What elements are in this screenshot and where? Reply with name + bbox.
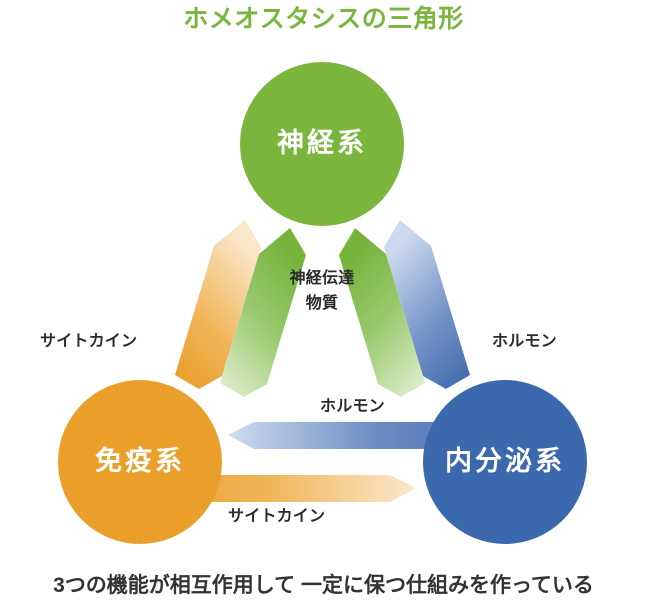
edge-label-neurotransmitter-line1: 神経伝達 [267, 268, 377, 289]
edge-label-cytokine-bottom: サイトカイン [228, 506, 325, 527]
edge-label-hormone-right: ホルモン [492, 331, 557, 352]
node-circle-nervous[interactable] [240, 62, 404, 226]
diagram-caption: 3つの機能が相互作用して 一定に保つ仕組みを作っている [0, 572, 647, 600]
edge-label-cytokine-left: サイトカイン [40, 331, 137, 352]
node-circle-immune[interactable] [58, 380, 222, 544]
homeostasis-triangle-diagram: ホメオスタシスの三角形 [0, 0, 647, 607]
edge-label-neurotransmitter-line2: 物質 [267, 293, 377, 314]
node-circle-endocrine[interactable] [423, 380, 587, 544]
edge-label-hormone-bottom: ホルモン [320, 396, 385, 417]
